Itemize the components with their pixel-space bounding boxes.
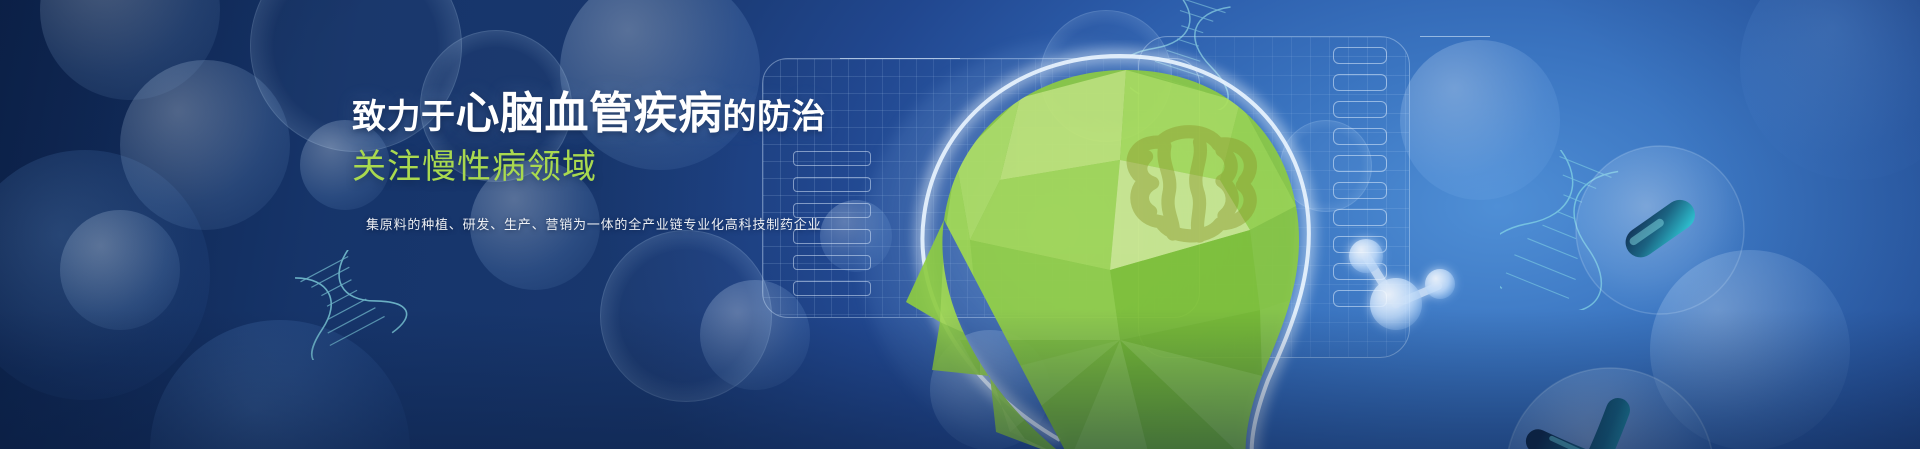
- page-subtitle: 关注慢性病领域: [352, 150, 822, 184]
- headline-part-3: 的防治: [723, 100, 827, 134]
- page-tagline: 集原料的种植、研发、生产、营销为一体的全产业链专业化高科技制药企业: [366, 214, 822, 233]
- headline-part-2-emphasis: 心脑血管疾病: [456, 92, 723, 136]
- page-title: 致力于 心脑血管疾病 的防治: [352, 92, 822, 136]
- hero-text-block: 致力于 心脑血管疾病 的防治 关注慢性病领域 集原料的种植、研发、生产、营销为一…: [352, 92, 822, 233]
- headline-part-1: 致力于: [352, 100, 456, 134]
- background-bottom-glow: [0, 309, 1920, 449]
- hero-banner: 致力于 心脑血管疾病 的防治 关注慢性病领域 集原料的种植、研发、生产、营销为一…: [0, 0, 1920, 449]
